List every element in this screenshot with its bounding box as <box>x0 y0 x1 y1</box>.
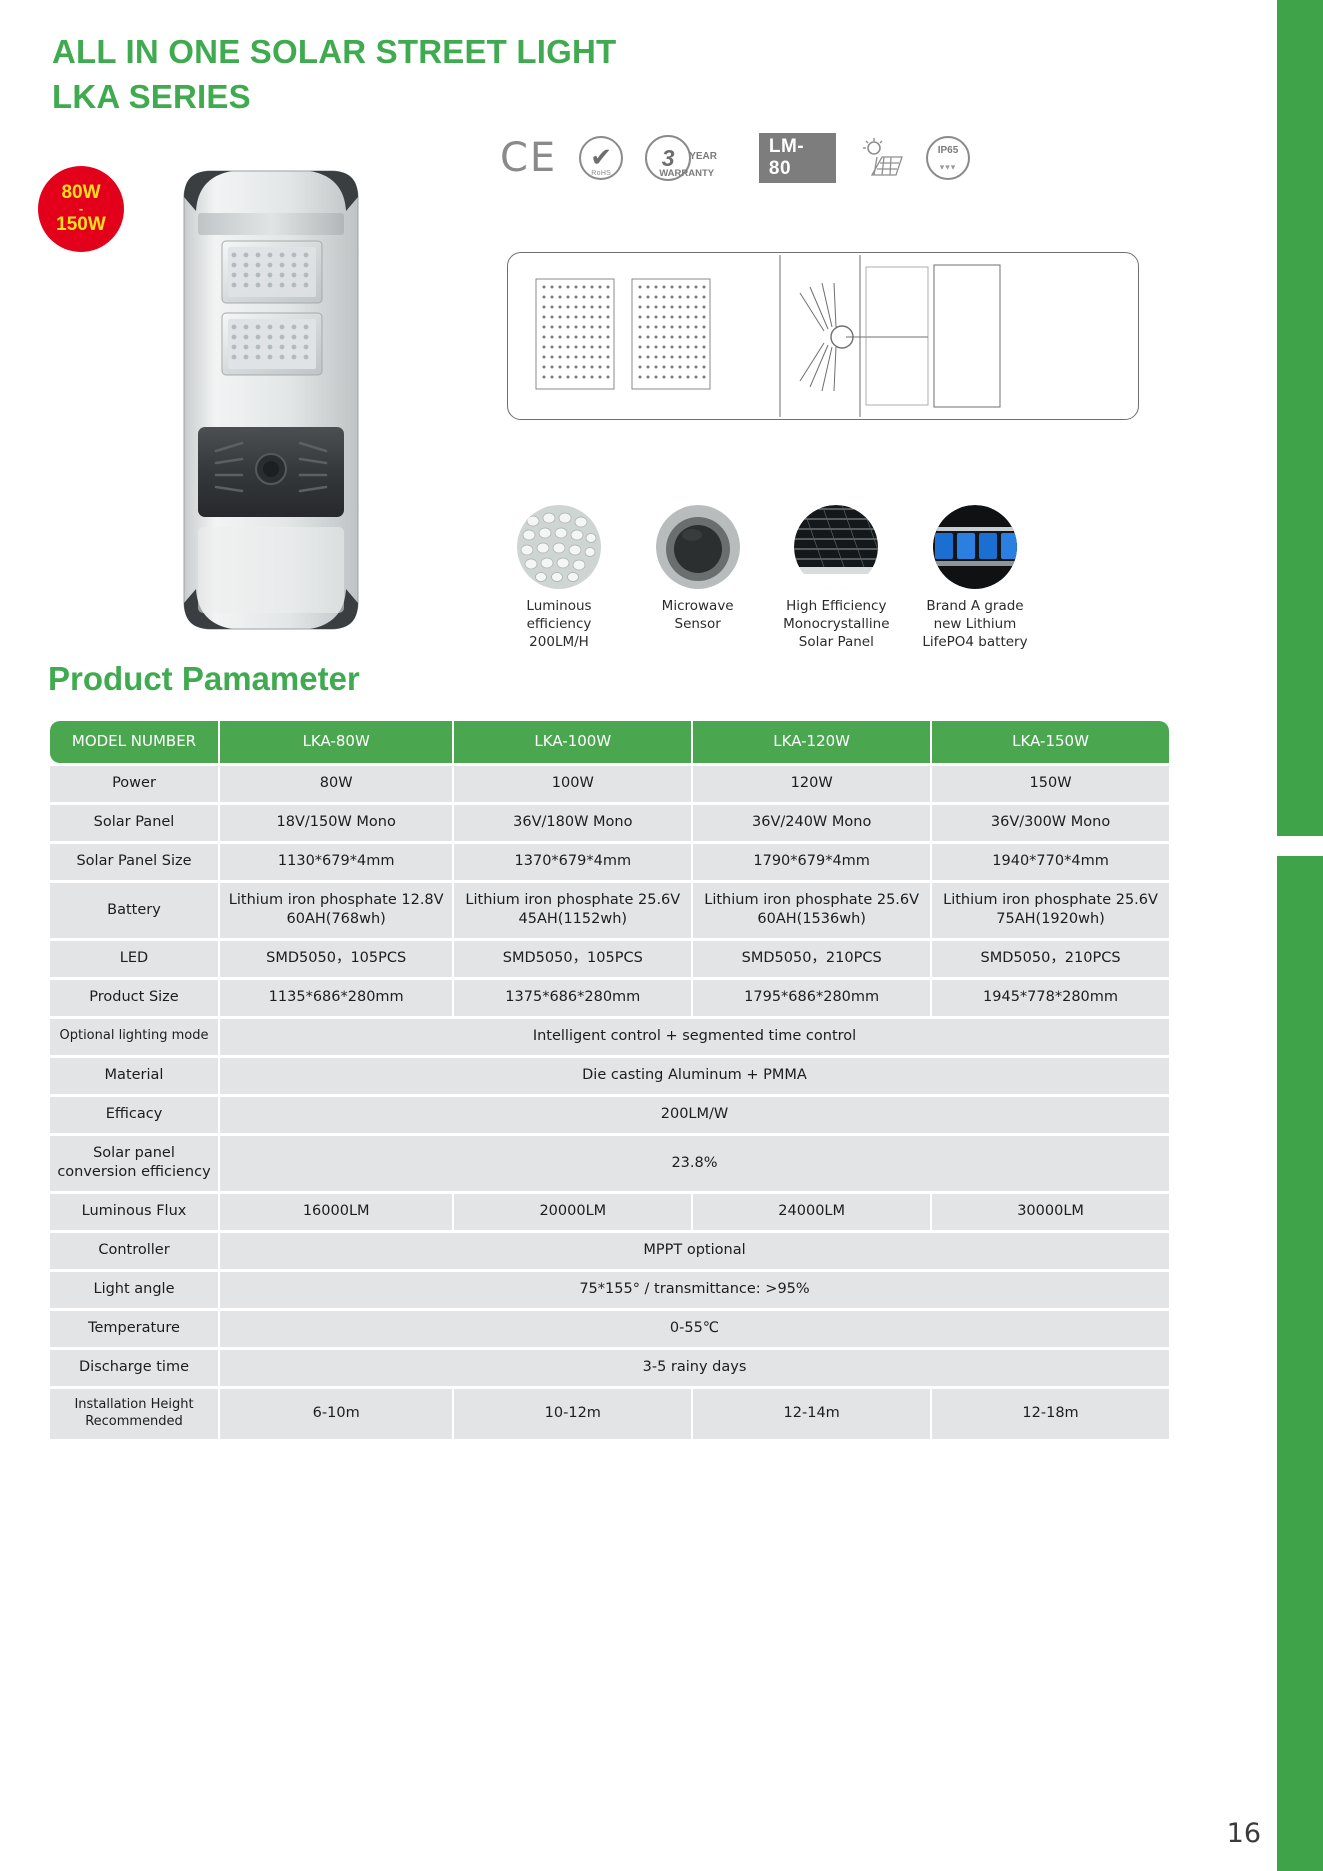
table-row: Solar Panel 18V/150W Mono 36V/180W Mono … <box>50 805 1169 841</box>
row-label: Power <box>50 766 218 802</box>
feature-item: High EfficiencyMonocrystallineSolar Pane… <box>774 505 898 685</box>
row-value-merged: Intelligent control + segmented time con… <box>220 1019 1169 1055</box>
row-value: 6-10m <box>220 1389 452 1439</box>
green-edge-bar-top <box>1277 0 1323 836</box>
lithium-battery-icon <box>933 505 1017 589</box>
page-number: 16 <box>1227 1818 1261 1849</box>
warranty-icon: 3 YEAR WARRANTY <box>645 135 737 181</box>
table-header-row: MODEL NUMBER LKA-80W LKA-100W LKA-120W L… <box>50 721 1169 763</box>
feature-item: Brand A gradenew LithiumLifePO4 battery <box>913 505 1037 685</box>
row-label: Optional lighting mode <box>50 1019 218 1055</box>
row-value: 12-14m <box>693 1389 930 1439</box>
table-header-cell: LKA-100W <box>454 721 691 763</box>
row-value: SMD5050，105PCS <box>220 941 452 977</box>
row-value-merged: MPPT optional <box>220 1233 1169 1269</box>
ip65-circle: IP65 ▾▾▾ <box>926 136 970 180</box>
rohs-icon: ✔ RoHS <box>579 136 623 180</box>
feature-caption: MicrowaveSensor <box>662 598 734 634</box>
product-photo <box>176 165 366 635</box>
row-value: 1135*686*280mm <box>220 980 452 1016</box>
row-value: 36V/240W Mono <box>693 805 930 841</box>
row-label: Light angle <box>50 1272 218 1308</box>
row-value-merged: Die casting Aluminum + PMMA <box>220 1058 1169 1094</box>
row-value: 24000LM <box>693 1194 930 1230</box>
table-row: Battery Lithium iron phosphate 12.8V 60A… <box>50 883 1169 938</box>
row-label: Solar Panel Size <box>50 844 218 880</box>
row-value: 20000LM <box>454 1194 691 1230</box>
page-title-line1: ALL IN ONE SOLAR STREET LIGHT <box>52 30 616 75</box>
solar-panel-sun-icon <box>858 137 904 179</box>
table-row: Solar Panel Size 1130*679*4mm 1370*679*4… <box>50 844 1169 880</box>
row-label: Efficacy <box>50 1097 218 1133</box>
table-row: Luminous Flux 16000LM 20000LM 24000LM 30… <box>50 1194 1169 1230</box>
row-value-merged: 75*155° / transmittance: >95% <box>220 1272 1169 1308</box>
table-header-cell: LKA-150W <box>932 721 1169 763</box>
row-value: Lithium iron phosphate 25.6V 45AH(1152wh… <box>454 883 691 938</box>
row-value: SMD5050，105PCS <box>454 941 691 977</box>
table-row: Temperature 0-55℃ <box>50 1311 1169 1347</box>
row-value: 1940*770*4mm <box>932 844 1169 880</box>
table-header-cell: MODEL NUMBER <box>50 721 218 763</box>
row-value: 150W <box>932 766 1169 802</box>
feature-item: Luminous efficiency200LM/H <box>497 505 621 685</box>
product-parameter-table: MODEL NUMBER LKA-80W LKA-100W LKA-120W L… <box>48 718 1171 1442</box>
row-value: 36V/300W Mono <box>932 805 1169 841</box>
ce-mark-glyph: CE <box>500 135 557 181</box>
warranty-word-label: WARRANTY <box>659 168 714 179</box>
table-header-cell: LKA-80W <box>220 721 452 763</box>
solar-panel-icon <box>794 505 878 589</box>
table-row: LED SMD5050，105PCS SMD5050，105PCS SMD505… <box>50 941 1169 977</box>
row-value-merged: 0-55℃ <box>220 1311 1169 1347</box>
row-value: SMD5050，210PCS <box>932 941 1169 977</box>
row-value: 100W <box>454 766 691 802</box>
feature-caption: Luminous efficiency200LM/H <box>497 598 621 651</box>
row-value: 12-18m <box>932 1389 1169 1439</box>
product-datasheet-page: ALL IN ONE SOLAR STREET LIGHT LKA SERIES… <box>0 0 1323 1871</box>
lm80-icon: LM-80 <box>759 133 836 183</box>
feature-item: MicrowaveSensor <box>636 505 760 685</box>
section-title: Product Pamameter <box>48 660 360 698</box>
row-value-merged: 200LM/W <box>220 1097 1169 1133</box>
row-label: Solar Panel <box>50 805 218 841</box>
row-label: Solar panelconversion efficiency <box>50 1136 218 1191</box>
row-value: 30000LM <box>932 1194 1169 1230</box>
row-value: Lithium iron phosphate 25.6V 60AH(1536wh… <box>693 883 930 938</box>
table-row: Installation HeightRecommended 6-10m 10-… <box>50 1389 1169 1439</box>
row-value: 36V/180W Mono <box>454 805 691 841</box>
row-value: 80W <box>220 766 452 802</box>
table-row: Discharge time 3-5 rainy days <box>50 1350 1169 1386</box>
table-row: Efficacy 200LM/W <box>50 1097 1169 1133</box>
certification-badges: CE ✔ RoHS 3 YEAR WARRANTY LM-80 <box>500 132 970 184</box>
row-label: Battery <box>50 883 218 938</box>
feature-highlights: Luminous efficiency200LM/H MicrowaveSens… <box>497 505 1037 685</box>
row-value: 1375*686*280mm <box>454 980 691 1016</box>
row-value: 16000LM <box>220 1194 452 1230</box>
row-value: 1945*778*280mm <box>932 980 1169 1016</box>
row-value: Lithium iron phosphate 12.8V 60AH(768wh) <box>220 883 452 938</box>
row-value: Lithium iron phosphate 25.6V 75AH(1920wh… <box>932 883 1169 938</box>
table-row: Controller MPPT optional <box>50 1233 1169 1269</box>
row-value: 10-12m <box>454 1389 691 1439</box>
warranty-year-label: YEAR <box>689 151 717 162</box>
row-value-merged: 3-5 rainy days <box>220 1350 1169 1386</box>
ip65-icon: IP65 ▾▾▾ <box>926 136 970 180</box>
rohs-label: RoHS <box>591 170 611 177</box>
ip65-label: IP65 <box>938 145 959 156</box>
table-row: Material Die casting Aluminum + PMMA <box>50 1058 1169 1094</box>
check-icon: ✔ <box>590 144 612 170</box>
feature-caption: Brand A gradenew LithiumLifePO4 battery <box>922 598 1027 651</box>
table-row: Light angle 75*155° / transmittance: >95… <box>50 1272 1169 1308</box>
row-label: Material <box>50 1058 218 1094</box>
row-value: SMD5050，210PCS <box>693 941 930 977</box>
row-value: 1130*679*4mm <box>220 844 452 880</box>
table-row: Optional lighting mode Intelligent contr… <box>50 1019 1169 1055</box>
row-label: Installation HeightRecommended <box>50 1389 218 1439</box>
led-lens-array-icon <box>517 505 601 589</box>
row-label: Temperature <box>50 1311 218 1347</box>
table-row: Product Size 1135*686*280mm 1375*686*280… <box>50 980 1169 1016</box>
row-label: Product Size <box>50 980 218 1016</box>
row-value-merged: 23.8% <box>220 1136 1169 1191</box>
lm80-label: LM-80 <box>759 133 836 183</box>
technical-drawing <box>507 252 1139 420</box>
table-row: Solar panelconversion efficiency 23.8% <box>50 1136 1169 1191</box>
row-label: Luminous Flux <box>50 1194 218 1230</box>
rohs-circle: ✔ RoHS <box>579 136 623 180</box>
row-label: LED <box>50 941 218 977</box>
power-range-top: 80W <box>61 183 100 203</box>
power-range-badge: 80W - 150W <box>38 166 124 252</box>
table-header-cell: LKA-120W <box>693 721 930 763</box>
row-label: Discharge time <box>50 1350 218 1386</box>
water-drops-icon: ▾▾▾ <box>928 162 968 173</box>
row-value: 1795*686*280mm <box>693 980 930 1016</box>
row-value: 120W <box>693 766 930 802</box>
row-value: 1370*679*4mm <box>454 844 691 880</box>
power-range-bottom: 150W <box>56 215 106 235</box>
feature-caption: High EfficiencyMonocrystallineSolar Pane… <box>783 598 889 651</box>
green-edge-bar-bottom <box>1277 856 1323 1871</box>
microwave-sensor-icon <box>656 505 740 589</box>
ce-icon: CE <box>500 135 557 181</box>
row-label: Controller <box>50 1233 218 1269</box>
page-title-line2: LKA SERIES <box>52 75 616 120</box>
page-title: ALL IN ONE SOLAR STREET LIGHT LKA SERIES <box>52 30 616 119</box>
table-row: Power 80W 100W 120W 150W <box>50 766 1169 802</box>
row-value: 18V/150W Mono <box>220 805 452 841</box>
row-value: 1790*679*4mm <box>693 844 930 880</box>
